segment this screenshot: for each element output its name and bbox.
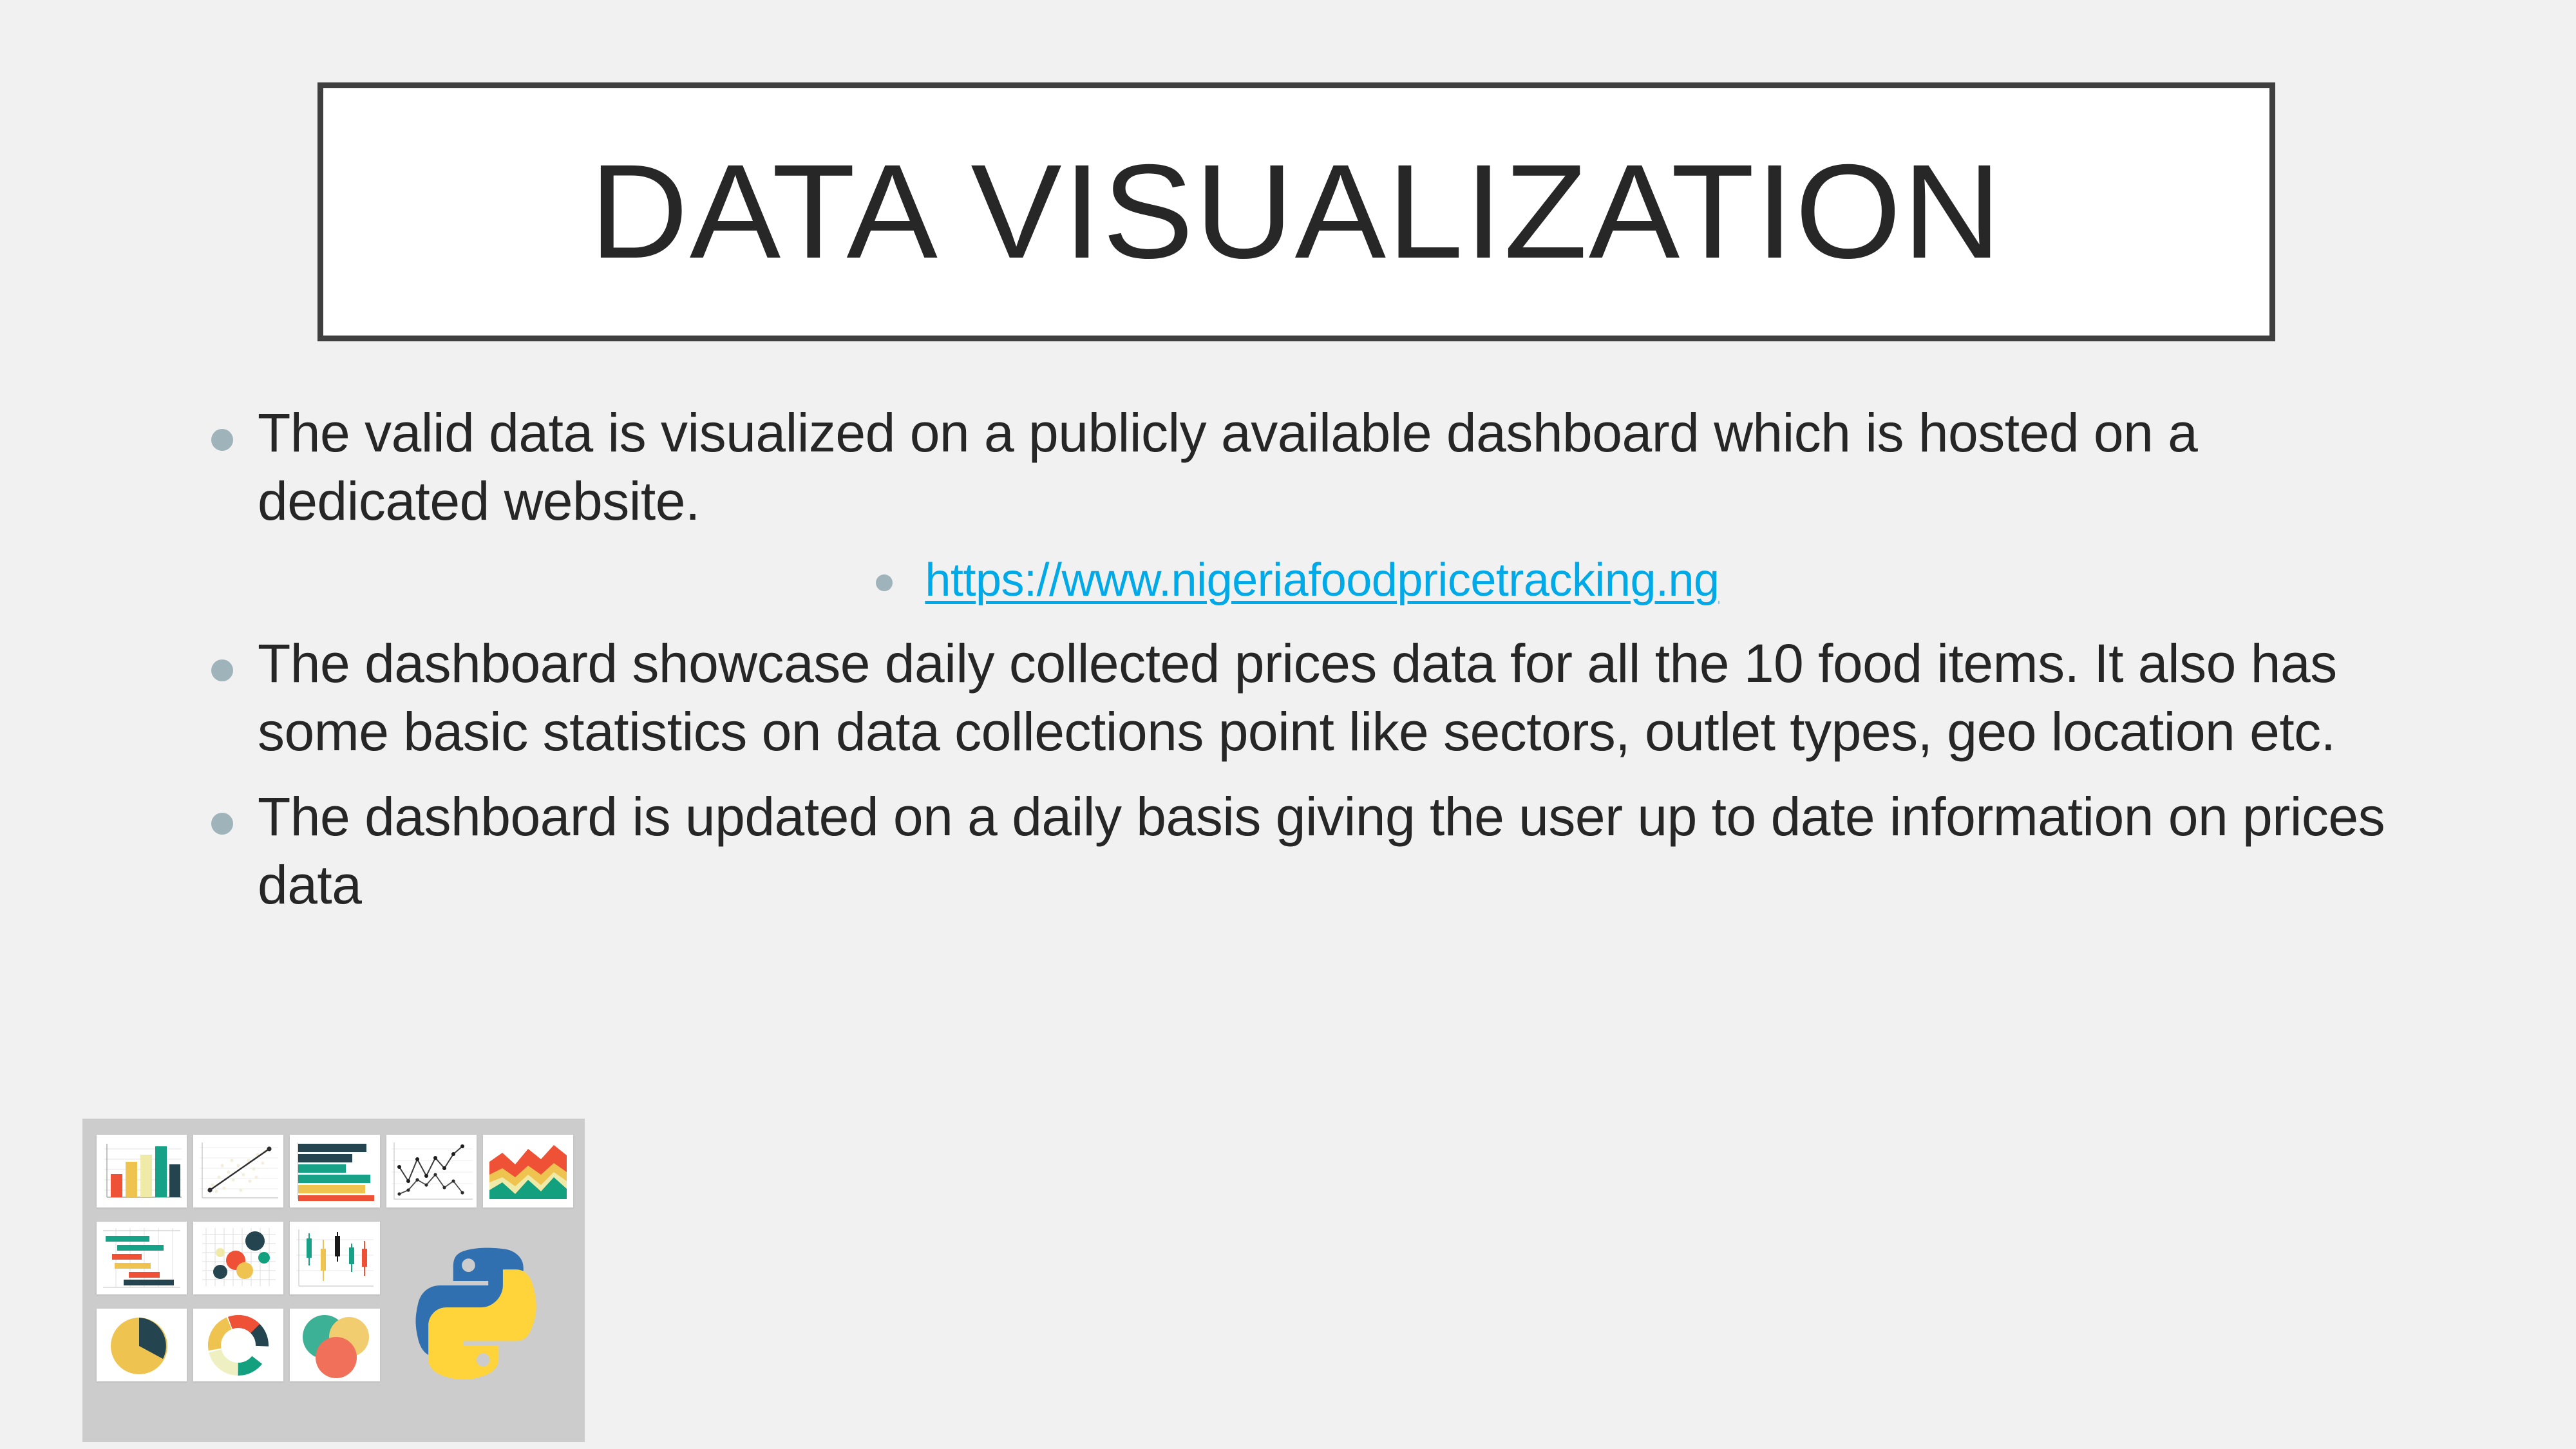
bullet-text: The valid data is visualized on a public… bbox=[258, 399, 2396, 536]
thumbnail-pie-chart bbox=[97, 1309, 187, 1381]
thumbnail-gantt-chart bbox=[97, 1222, 187, 1294]
thumbnail-venn-chart bbox=[290, 1309, 380, 1381]
thumbnail-donut-chart bbox=[193, 1309, 283, 1381]
python-logo-icon bbox=[404, 1235, 559, 1396]
thumbnail-horizontal-bar-chart bbox=[290, 1135, 380, 1207]
bullet-dot-icon bbox=[876, 574, 893, 591]
dashboard-link[interactable]: https://www.nigeriafoodpricetracking.ng bbox=[925, 554, 1719, 606]
bullet-dot-icon bbox=[211, 429, 233, 451]
title-box: DATA VISUALIZATION bbox=[317, 82, 2275, 341]
thumbnail-bubble-chart bbox=[193, 1222, 283, 1294]
thumbnail-stacked-area-chart bbox=[483, 1135, 573, 1207]
thumbnail-column-bar-chart bbox=[97, 1135, 187, 1207]
slide-canvas: DATA VISUALIZATION The valid data is vis… bbox=[0, 0, 2576, 1449]
content-body: The valid data is visualized on a public… bbox=[193, 399, 2396, 936]
list-item-sub: https://www.nigeriafoodpricetracking.ng bbox=[193, 553, 2396, 608]
bullet-text: The dashboard showcase daily collected p… bbox=[258, 630, 2396, 766]
bullet-text: The dashboard is updated on a daily basi… bbox=[258, 783, 2396, 920]
list-item: The dashboard showcase daily collected p… bbox=[193, 630, 2396, 766]
bullet-dot-icon bbox=[211, 659, 233, 681]
list-item: The dashboard is updated on a daily basi… bbox=[193, 783, 2396, 920]
thumbnail-scatter-trendline-chart bbox=[193, 1135, 283, 1207]
data-visualization-collage-image bbox=[82, 1119, 585, 1442]
thumbnail-line-chart bbox=[386, 1135, 477, 1207]
list-item: The valid data is visualized on a public… bbox=[193, 399, 2396, 536]
sub-bullet-wrap: https://www.nigeriafoodpricetracking.ng bbox=[869, 553, 1719, 608]
thumbnail-candlestick-chart bbox=[290, 1222, 380, 1294]
page-title: DATA VISUALIZATION bbox=[590, 145, 2003, 279]
bullet-dot-icon bbox=[211, 813, 233, 835]
